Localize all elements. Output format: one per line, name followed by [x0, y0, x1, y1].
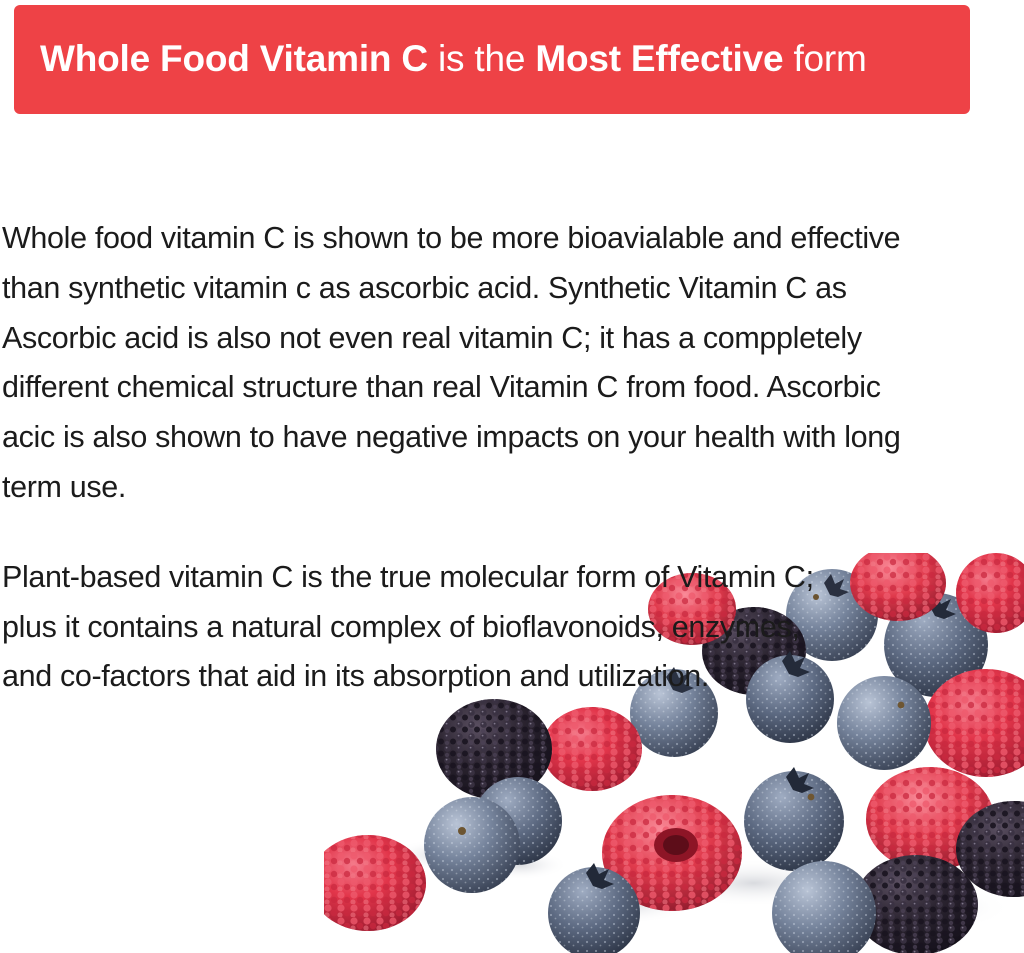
- banner-title-regular-2: form: [783, 38, 866, 79]
- paragraph-1: Whole food vitamin C is shown to be more…: [2, 214, 1002, 513]
- paragraph-1-line-6: term use.: [2, 463, 1002, 513]
- paragraph-2-line-2: plus it contains a natural complex of bi…: [2, 603, 1002, 653]
- paragraph-1-line-3: Ascorbic acid is also not even real vita…: [2, 314, 1002, 364]
- banner-title-regular-1: is the: [428, 38, 535, 79]
- paragraph-2: Plant-based vitamin C is the true molecu…: [2, 553, 1002, 702]
- body-copy: Whole food vitamin C is shown to be more…: [2, 214, 1002, 702]
- banner-title: Whole Food Vitamin C is the Most Effecti…: [40, 39, 867, 80]
- paragraph-1-line-2: than synthetic vitamin c as ascorbic aci…: [2, 264, 1002, 314]
- header-banner: Whole Food Vitamin C is the Most Effecti…: [14, 5, 970, 114]
- banner-title-bold-2: Most Effective: [535, 38, 783, 79]
- page-root: Whole Food Vitamin C is the Most Effecti…: [0, 0, 1024, 953]
- paragraph-1-line-5: acic is also shown to have negative impa…: [2, 413, 1002, 463]
- paragraph-1-line-1: Whole food vitamin C is shown to be more…: [2, 214, 1002, 264]
- banner-title-bold-1: Whole Food Vitamin C: [40, 38, 428, 79]
- paragraph-2-line-3: and co-factors that aid in its absorptio…: [2, 652, 1002, 702]
- paragraph-1-line-4: different chemical structure than real V…: [2, 363, 1002, 413]
- paragraph-2-line-1: Plant-based vitamin C is the true molecu…: [2, 553, 1002, 603]
